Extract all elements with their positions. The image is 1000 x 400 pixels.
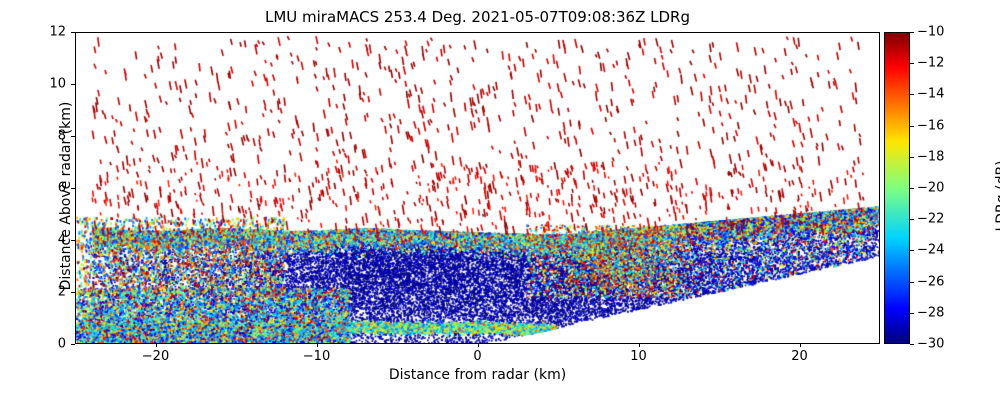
x-tick <box>639 343 640 347</box>
x-tick-label: 20 <box>791 349 808 364</box>
colorbar-tick-label: −16 <box>917 118 944 133</box>
x-tick-label: 10 <box>630 349 647 364</box>
colorbar-tick <box>910 32 914 33</box>
colorbar-tick-label: −14 <box>917 87 944 102</box>
colorbar-tick-label: −10 <box>917 25 944 40</box>
colorbar-tick <box>910 250 914 251</box>
colorbar-tick-label: −30 <box>917 337 944 352</box>
colorbar-tick <box>910 344 914 345</box>
colorbar-tick-label: −24 <box>917 243 944 258</box>
plot-area <box>75 32 880 344</box>
y-tick <box>71 32 75 33</box>
colorbar-tick-label: −18 <box>917 149 944 164</box>
x-tick <box>156 343 157 347</box>
x-tick <box>478 343 479 347</box>
colorbar-tick <box>910 63 914 64</box>
x-tick-label: −20 <box>142 349 169 364</box>
colorbar-tick <box>910 188 914 189</box>
x-tick-label: −10 <box>303 349 330 364</box>
colorbar-tick-label: −20 <box>917 181 944 196</box>
colorbar-tick-label: −26 <box>917 274 944 289</box>
colorbar-tick <box>910 313 914 314</box>
chart-title: LMU miraMACS 253.4 Deg. 2021-05-07T09:08… <box>75 8 880 26</box>
colorbar-tick <box>910 282 914 283</box>
colorbar-tick <box>910 94 914 95</box>
colorbar-gradient <box>885 33 909 343</box>
x-tick <box>800 343 801 347</box>
colorbar-tick-label: −12 <box>917 56 944 71</box>
colorbar-tick <box>910 219 914 220</box>
y-tick-label: 12 <box>42 25 66 40</box>
colorbar-tick <box>910 126 914 127</box>
colorbar-tick-label: −22 <box>917 212 944 227</box>
x-tick <box>317 343 318 347</box>
scatter-plot-canvas <box>76 33 879 343</box>
colorbar-label: LDRg (dB) <box>994 40 1000 352</box>
colorbar <box>884 32 910 344</box>
colorbar-tick <box>910 157 914 158</box>
figure: LMU miraMACS 253.4 Deg. 2021-05-07T09:08… <box>0 0 1000 400</box>
x-axis-label: Distance from radar (km) <box>75 367 880 383</box>
colorbar-tick-label: −28 <box>917 305 944 320</box>
x-tick-label: 0 <box>473 349 481 364</box>
y-axis-label: Distance Above radar (km) <box>58 40 74 352</box>
